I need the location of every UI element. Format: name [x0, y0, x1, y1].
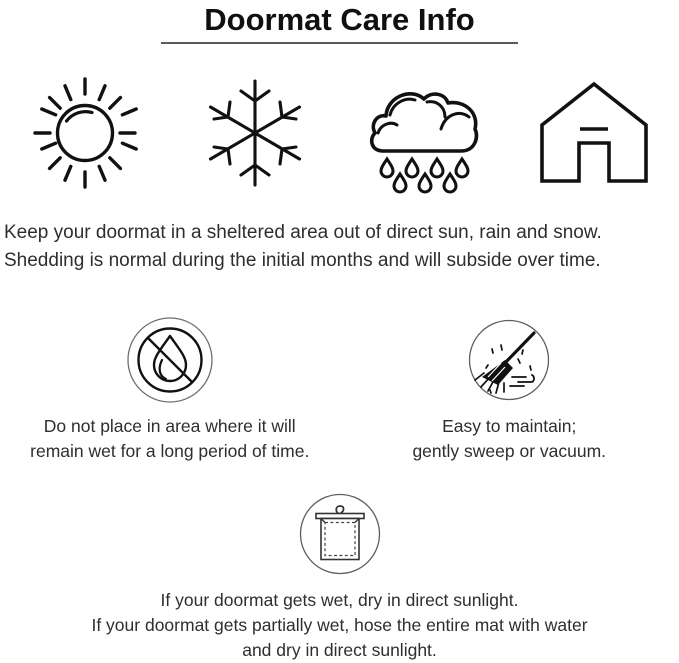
page-title: Doormat Care Info — [0, 1, 679, 39]
drying-section: If your doormat gets wet, dry in direct … — [0, 488, 679, 663]
broom-sweep-icon — [468, 319, 550, 401]
care-item-caption: Do not place in area where it will remai… — [30, 414, 309, 464]
rain-cloud-icon — [367, 79, 481, 187]
care-icon-wrap — [468, 312, 550, 408]
weather-cell-house — [509, 68, 679, 198]
title-divider — [161, 42, 518, 44]
snowflake-icon — [205, 79, 305, 187]
care-item-no-water: Do not place in area where it will remai… — [0, 312, 340, 482]
care-item-sweep: Easy to maintain; gently sweep or vacuum… — [340, 312, 679, 482]
intro-paragraph: Keep your doormat in a sheltered area ou… — [4, 219, 676, 274]
title-block: Doormat Care Info — [0, 0, 679, 44]
house-icon — [539, 81, 649, 185]
sun-icon — [33, 77, 137, 189]
weather-cell-sun — [0, 68, 170, 198]
weather-icon-row — [0, 68, 679, 198]
hang-dry-icon — [298, 492, 382, 576]
drying-icon-wrap — [298, 488, 382, 580]
care-icon-wrap — [126, 312, 214, 408]
care-pair-section: Do not place in area where it will remai… — [0, 312, 679, 482]
no-water-icon — [126, 316, 214, 404]
drying-caption: If your doormat gets wet, dry in direct … — [91, 588, 587, 663]
weather-cell-rain — [340, 68, 510, 198]
weather-cell-snow — [170, 68, 340, 198]
care-item-caption: Easy to maintain; gently sweep or vacuum… — [412, 414, 606, 464]
